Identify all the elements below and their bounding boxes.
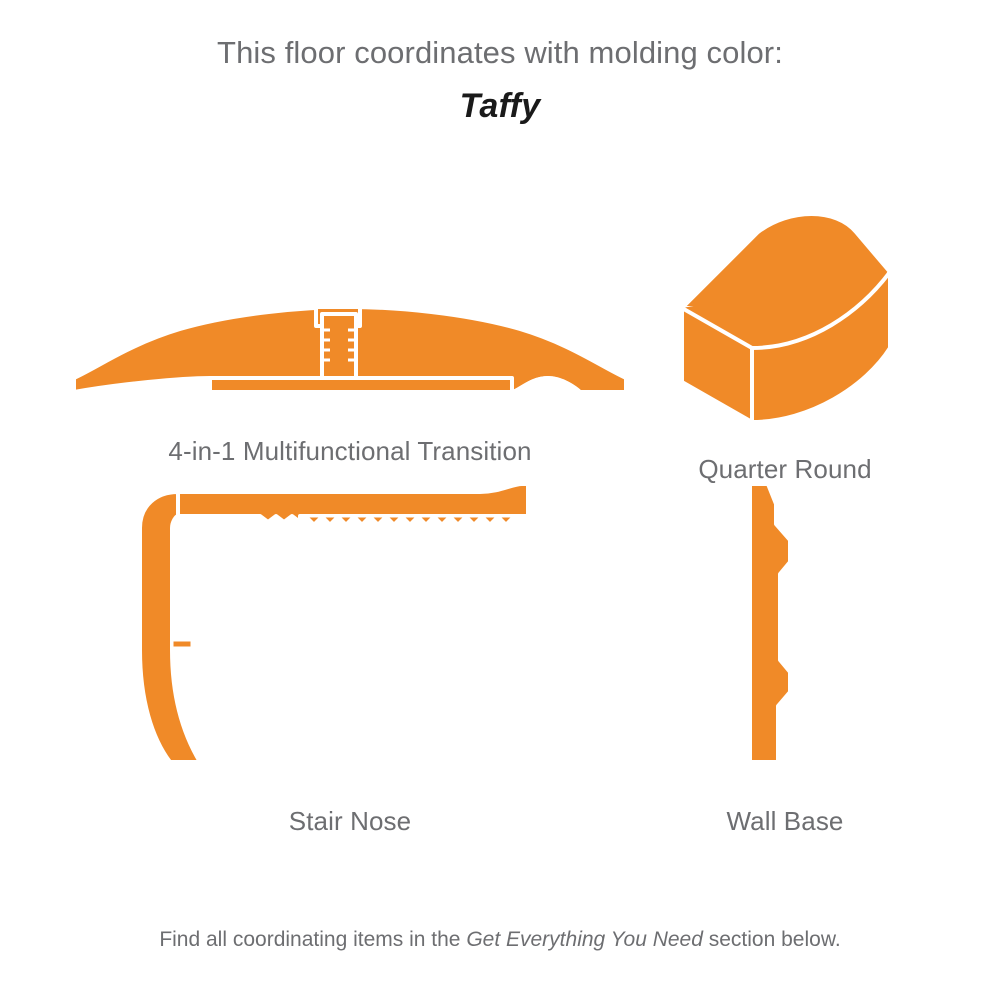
wall-base-icon — [640, 470, 930, 780]
quarter-round-illustration — [640, 190, 930, 430]
multifunctional-transition-icon — [60, 280, 640, 410]
transition-illustration — [60, 280, 640, 410]
page-title: This floor coordinates with molding colo… — [0, 34, 1000, 71]
molding-item-wall-base: Wall Base — [640, 470, 930, 837]
molding-item-transition: 4-in-1 Multifunctional Transition — [60, 280, 640, 467]
molding-coordination-card: This floor coordinates with molding colo… — [0, 0, 1000, 1000]
page-header: This floor coordinates with molding colo… — [0, 34, 1000, 126]
footer-prefix: Find all coordinating items in the — [159, 928, 466, 951]
molding-item-stair-nose: Stair Nose — [60, 470, 640, 837]
molding-color-name: Taffy — [0, 87, 1000, 126]
molding-item-quarter-round: Quarter Round — [640, 190, 930, 485]
wall-base-label: Wall Base — [640, 806, 930, 837]
quarter-round-icon — [640, 190, 930, 430]
footer-suffix: section below. — [703, 928, 841, 951]
stair-nose-illustration — [60, 470, 640, 780]
molding-items-grid: 4-in-1 Multifunctional Transition Quarte… — [0, 170, 1000, 870]
transition-label: 4-in-1 Multifunctional Transition — [60, 436, 640, 467]
wall-base-illustration — [640, 470, 930, 780]
footer-note: Find all coordinating items in the Get E… — [0, 928, 1000, 952]
stair-nose-label: Stair Nose — [60, 806, 640, 837]
stair-nose-icon — [60, 470, 640, 780]
footer-emphasis: Get Everything You Need — [466, 928, 703, 951]
